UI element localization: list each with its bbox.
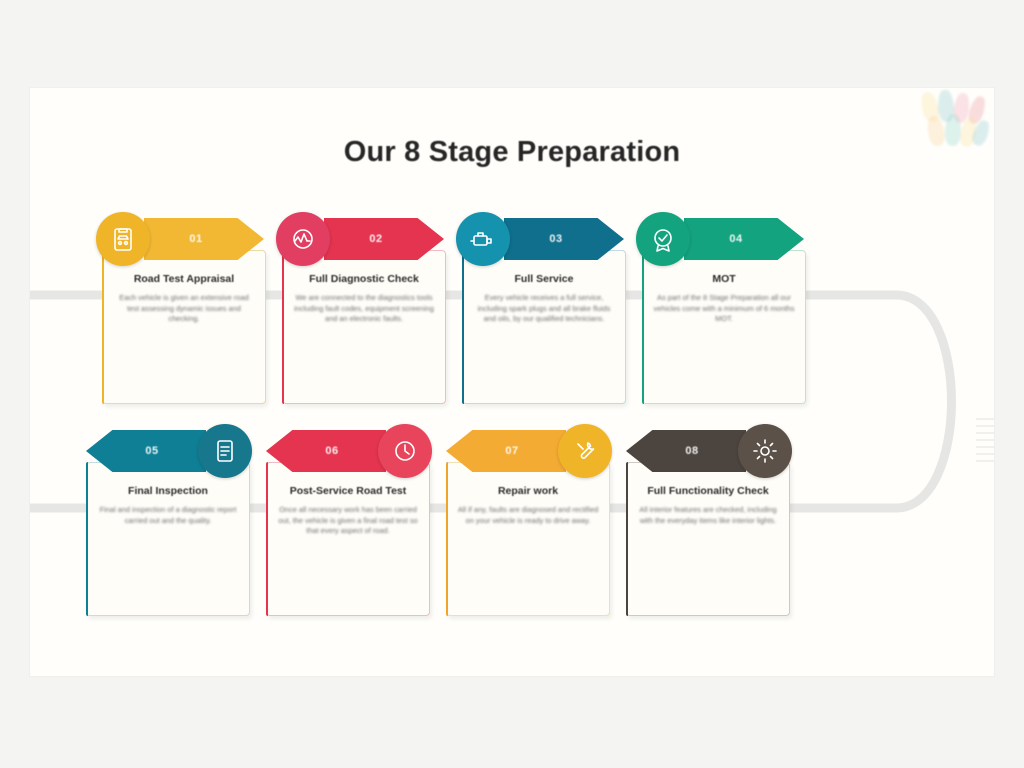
- stage-description: Once all necessary work has been carried…: [277, 505, 419, 537]
- stage-title: Full Functionality Check: [637, 485, 779, 498]
- stage-number: 07: [505, 445, 518, 457]
- stage-title: Repair work: [457, 485, 599, 498]
- stage-card-body: Final InspectionFinal and inspection of …: [86, 462, 250, 616]
- inspection-checklist-icon: [198, 424, 252, 478]
- stage-card-body: Full Functionality CheckAll interior fea…: [626, 462, 790, 616]
- stage-card-content: Road Test AppraisalEach vehicle is given…: [103, 273, 265, 325]
- stage-title: MOT: [653, 273, 795, 286]
- stage-card-body: Road Test AppraisalEach vehicle is given…: [102, 250, 266, 404]
- stage-card[interactable]: Final InspectionFinal and inspection of …: [68, 418, 268, 633]
- stage-card[interactable]: Full Diagnostic CheckWe are connected to…: [264, 206, 464, 421]
- stage-card-body: Full Diagnostic CheckWe are connected to…: [282, 250, 446, 404]
- stage-card-content: Final InspectionFinal and inspection of …: [87, 485, 249, 526]
- functionality-gear-icon: [738, 424, 792, 478]
- stage-description: Every vehicle receives a full service, i…: [473, 293, 615, 325]
- stage-title: Final Inspection: [97, 485, 239, 498]
- stage-card-content: Repair workAll if any, faults are diagno…: [447, 485, 609, 526]
- stage-description: Each vehicle is given an extensive road …: [113, 293, 255, 325]
- stage-description: Final and inspection of a diagnostic rep…: [97, 505, 239, 526]
- stage-card-content: Full ServiceEvery vehicle receives a ful…: [463, 273, 625, 325]
- clipboard-car-icon: [96, 212, 150, 266]
- stage-card[interactable]: MOTAs part of the 8 Stage Preparation al…: [624, 206, 824, 421]
- stage-card-content: Post-Service Road TestOnce all necessary…: [267, 485, 429, 537]
- road-test-icon: [378, 424, 432, 478]
- repair-tools-icon: [558, 424, 612, 478]
- stage-row-top: Road Test AppraisalEach vehicle is given…: [30, 206, 994, 421]
- stage-card[interactable]: Full ServiceEvery vehicle receives a ful…: [444, 206, 644, 421]
- stage-number: 03: [549, 233, 562, 245]
- stage-card-content: Full Functionality CheckAll interior fea…: [627, 485, 789, 526]
- stage-description: As part of the 8 Stage Preparation all o…: [653, 293, 795, 325]
- stage-description: All if any, faults are diagnosed and rec…: [457, 505, 599, 526]
- stage-card[interactable]: Full Functionality CheckAll interior fea…: [608, 418, 808, 633]
- presentation-slide: Our 8 Stage Preparation Road Test Apprai…: [30, 88, 994, 676]
- diagnostic-scan-icon: [276, 212, 330, 266]
- stage-number: 01: [189, 233, 202, 245]
- stage-row-bottom: Final InspectionFinal and inspection of …: [30, 418, 994, 633]
- stage-number: 02: [369, 233, 382, 245]
- stage-card[interactable]: Post-Service Road TestOnce all necessary…: [248, 418, 448, 633]
- stage-card-body: Repair workAll if any, faults are diagno…: [446, 462, 610, 616]
- stage-number: 06: [325, 445, 338, 457]
- stage-description: All interior features are checked, inclu…: [637, 505, 779, 526]
- stage-title: Post-Service Road Test: [277, 485, 419, 498]
- stage-title: Full Service: [473, 273, 615, 286]
- stage-card-content: Full Diagnostic CheckWe are connected to…: [283, 273, 445, 325]
- stage-card-content: MOTAs part of the 8 Stage Preparation al…: [643, 273, 805, 325]
- engine-service-icon: [456, 212, 510, 266]
- stage-card[interactable]: Repair workAll if any, faults are diagno…: [428, 418, 628, 633]
- stage-title: Road Test Appraisal: [113, 273, 255, 286]
- stage-number: 04: [729, 233, 742, 245]
- stage-description: We are connected to the diagnostics tool…: [293, 293, 435, 325]
- mot-certificate-icon: [636, 212, 690, 266]
- dot-grid-top-left: [30, 94, 32, 140]
- stage-card-body: MOTAs part of the 8 Stage Preparation al…: [642, 250, 806, 404]
- stage-card-body: Full ServiceEvery vehicle receives a ful…: [462, 250, 626, 404]
- stage-card[interactable]: Road Test AppraisalEach vehicle is given…: [84, 206, 284, 421]
- page-title: Our 8 Stage Preparation: [30, 136, 994, 169]
- stage-card-body: Post-Service Road TestOnce all necessary…: [266, 462, 430, 616]
- screenshot-root: Our 8 Stage Preparation Road Test Apprai…: [0, 0, 1024, 768]
- stage-number: 08: [685, 445, 698, 457]
- stage-title: Full Diagnostic Check: [293, 273, 435, 286]
- stage-number: 05: [145, 445, 158, 457]
